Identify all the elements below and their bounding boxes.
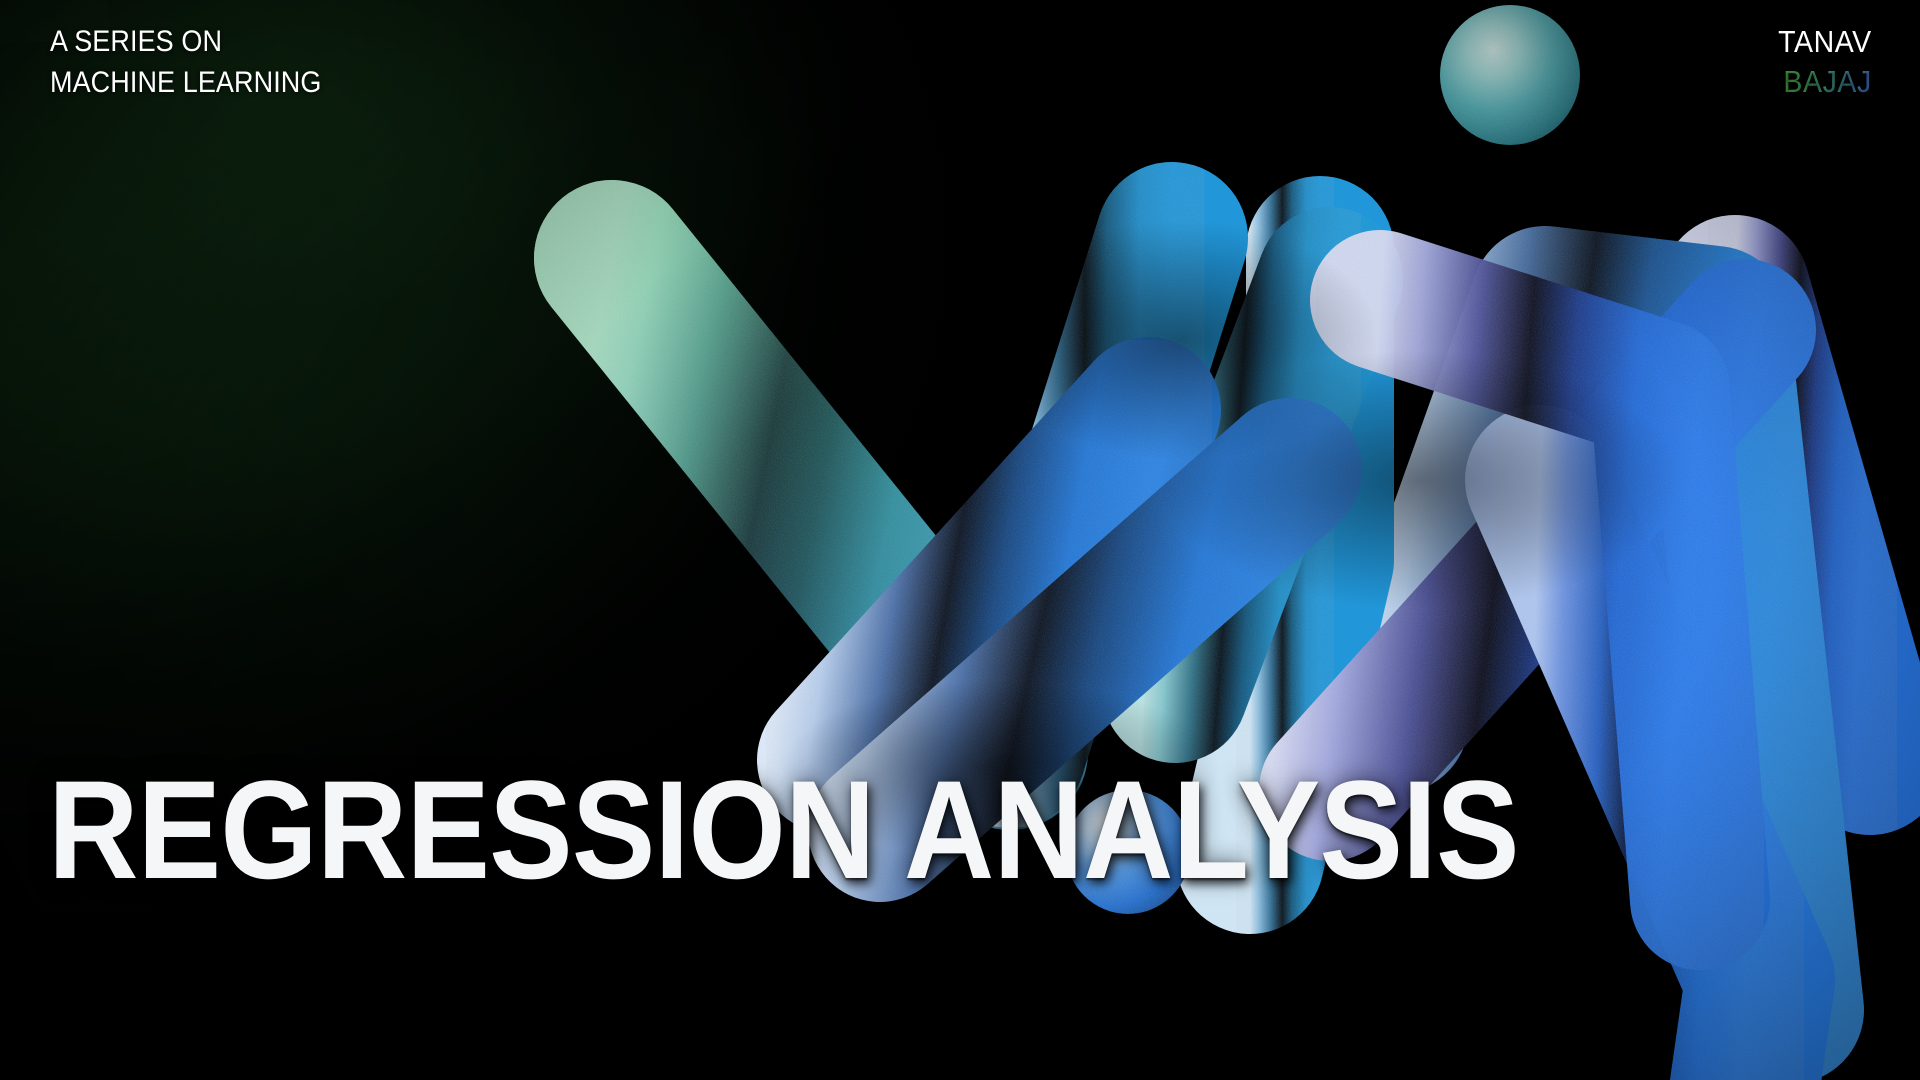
- page-title: REGRESSION ANALYSIS: [48, 761, 1519, 898]
- series-kicker: A SERIES ON MACHINE LEARNING: [50, 22, 321, 104]
- author-first-name: TANAV: [1778, 22, 1872, 62]
- sphere-teal-top: [1440, 5, 1580, 145]
- author-byline: TANAV BAJAJ: [1778, 22, 1872, 103]
- abstract-tube-artwork: [0, 0, 1920, 1080]
- poster-canvas: A SERIES ON MACHINE LEARNING TANAV BAJAJ…: [0, 0, 1920, 1080]
- author-last-name: BAJAJ: [1778, 62, 1872, 102]
